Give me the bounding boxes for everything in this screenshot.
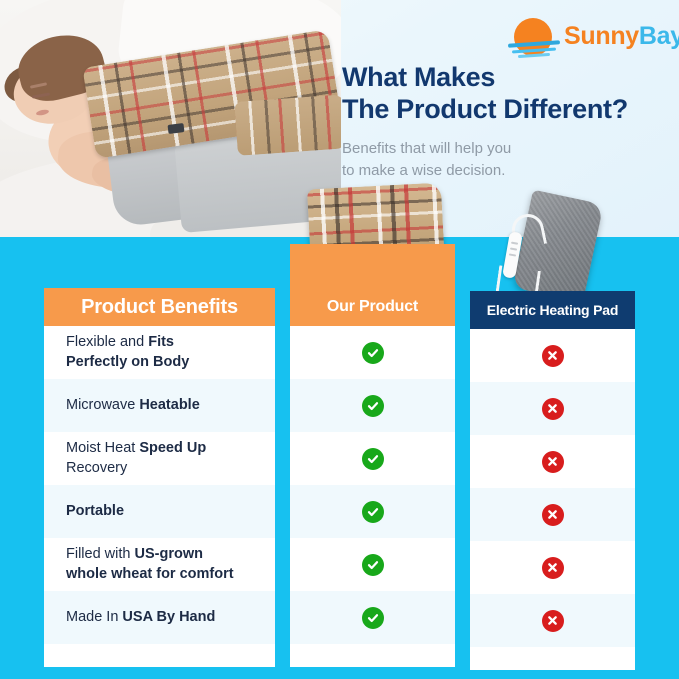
controller-line-1 <box>511 242 518 245</box>
table-cell[interactable] <box>290 432 455 485</box>
controller-line-3 <box>509 253 516 256</box>
check-circle-icon <box>362 395 384 417</box>
column-header-our-product: Our Product <box>290 288 455 326</box>
x-circle-icon <box>542 398 564 420</box>
check-circle-icon <box>362 501 384 523</box>
headline-line-1: What Makes <box>342 62 672 94</box>
check-circle-icon <box>362 448 384 470</box>
sun-icon <box>506 18 564 58</box>
table-cell[interactable] <box>470 594 635 647</box>
table-cell[interactable] <box>290 379 455 432</box>
benefit-text-bold: Heatable <box>139 397 199 413</box>
table-bottom-pad <box>470 647 635 670</box>
check-circle-icon <box>362 554 384 576</box>
our-product-header-image-area <box>290 244 455 288</box>
column-header-product-benefits: Product Benefits <box>44 288 275 326</box>
table-row[interactable]: Moist Heat Speed UpRecovery <box>44 432 275 485</box>
electric-pad-cells <box>470 329 635 670</box>
infographic-root: SunnyBay What Makes The Product Differen… <box>0 0 679 679</box>
brand-logo[interactable]: SunnyBay <box>506 16 666 60</box>
benefits-cells: Flexible and FitsPerfectly on Body Micro… <box>44 326 275 667</box>
x-circle-icon <box>542 345 564 367</box>
controller-line-2 <box>510 247 517 250</box>
table-cell[interactable] <box>290 538 455 591</box>
brand-name-part2: Bay <box>639 22 679 50</box>
column-our-product: Our Product <box>290 244 455 667</box>
page-subtitle: Benefits that will help you to make a wi… <box>342 138 642 182</box>
table-cell[interactable] <box>470 541 635 594</box>
table-cell[interactable] <box>470 329 635 382</box>
product-tag <box>168 123 185 134</box>
column-electric-heating-pad: Electric Heating Pad <box>470 291 635 670</box>
table-row[interactable]: Flexible and FitsPerfectly on Body <box>44 326 275 379</box>
subhead-line-1: Benefits that will help you <box>342 138 642 160</box>
check-circle-icon <box>362 342 384 364</box>
table-cell[interactable] <box>290 591 455 644</box>
table-cell[interactable] <box>470 382 635 435</box>
x-circle-icon <box>542 504 564 526</box>
benefit-text-normal: Filled with <box>66 546 135 562</box>
x-circle-icon <box>542 610 564 632</box>
check-circle-icon <box>362 607 384 629</box>
benefit-text-bold-2: Perfectly on Body <box>66 354 189 370</box>
headline-line-2: The Product Different? <box>342 94 672 126</box>
benefit-text-bold: USA By Hand <box>122 609 215 625</box>
x-circle-icon <box>542 451 564 473</box>
table-cell[interactable] <box>290 485 455 538</box>
our-product-cells <box>290 326 455 667</box>
benefit-text-bold-2: whole wheat for comfort <box>66 566 234 582</box>
table-row[interactable]: Microwave Heatable <box>44 379 275 432</box>
benefit-text-normal: Moist Heat <box>66 440 139 456</box>
benefit-text-bold: Fits <box>148 334 174 350</box>
benefit-text-bold: Speed Up <box>139 440 206 456</box>
column-product-benefits: Product Benefits Flexible and FitsPerfec… <box>44 288 275 667</box>
benefit-text-normal: Made In <box>66 609 122 625</box>
wave-icon-3 <box>518 53 550 58</box>
benefit-text-bold: Portable <box>66 503 124 519</box>
table-cell[interactable] <box>470 488 635 541</box>
table-bottom-pad <box>290 644 455 667</box>
hero-photo <box>0 0 341 237</box>
table-row[interactable]: Filled with US-grownwhole wheat for comf… <box>44 538 275 591</box>
table-row[interactable]: Portable <box>44 485 275 538</box>
brand-name-part1: Sunny <box>564 22 639 50</box>
plaid-heating-pad-end <box>234 94 341 156</box>
benefit-text-normal: Microwave <box>66 397 139 413</box>
benefit-text-normal: Flexible and <box>66 334 148 350</box>
column-header-electric-heating-pad: Electric Heating Pad <box>470 291 635 329</box>
subhead-line-2: to make a wise decision. <box>342 160 642 182</box>
table-cell[interactable] <box>290 326 455 379</box>
table-cell[interactable] <box>470 435 635 488</box>
table-row[interactable]: Made In USA By Hand <box>44 591 275 644</box>
page-title: What Makes The Product Different? <box>342 62 672 126</box>
table-bottom-pad <box>44 644 275 667</box>
x-circle-icon <box>542 557 564 579</box>
benefit-text-bold-2: Recovery <box>66 460 127 476</box>
benefit-text-bold: US-grown <box>135 546 203 562</box>
brand-wordmark: SunnyBay <box>564 22 679 51</box>
